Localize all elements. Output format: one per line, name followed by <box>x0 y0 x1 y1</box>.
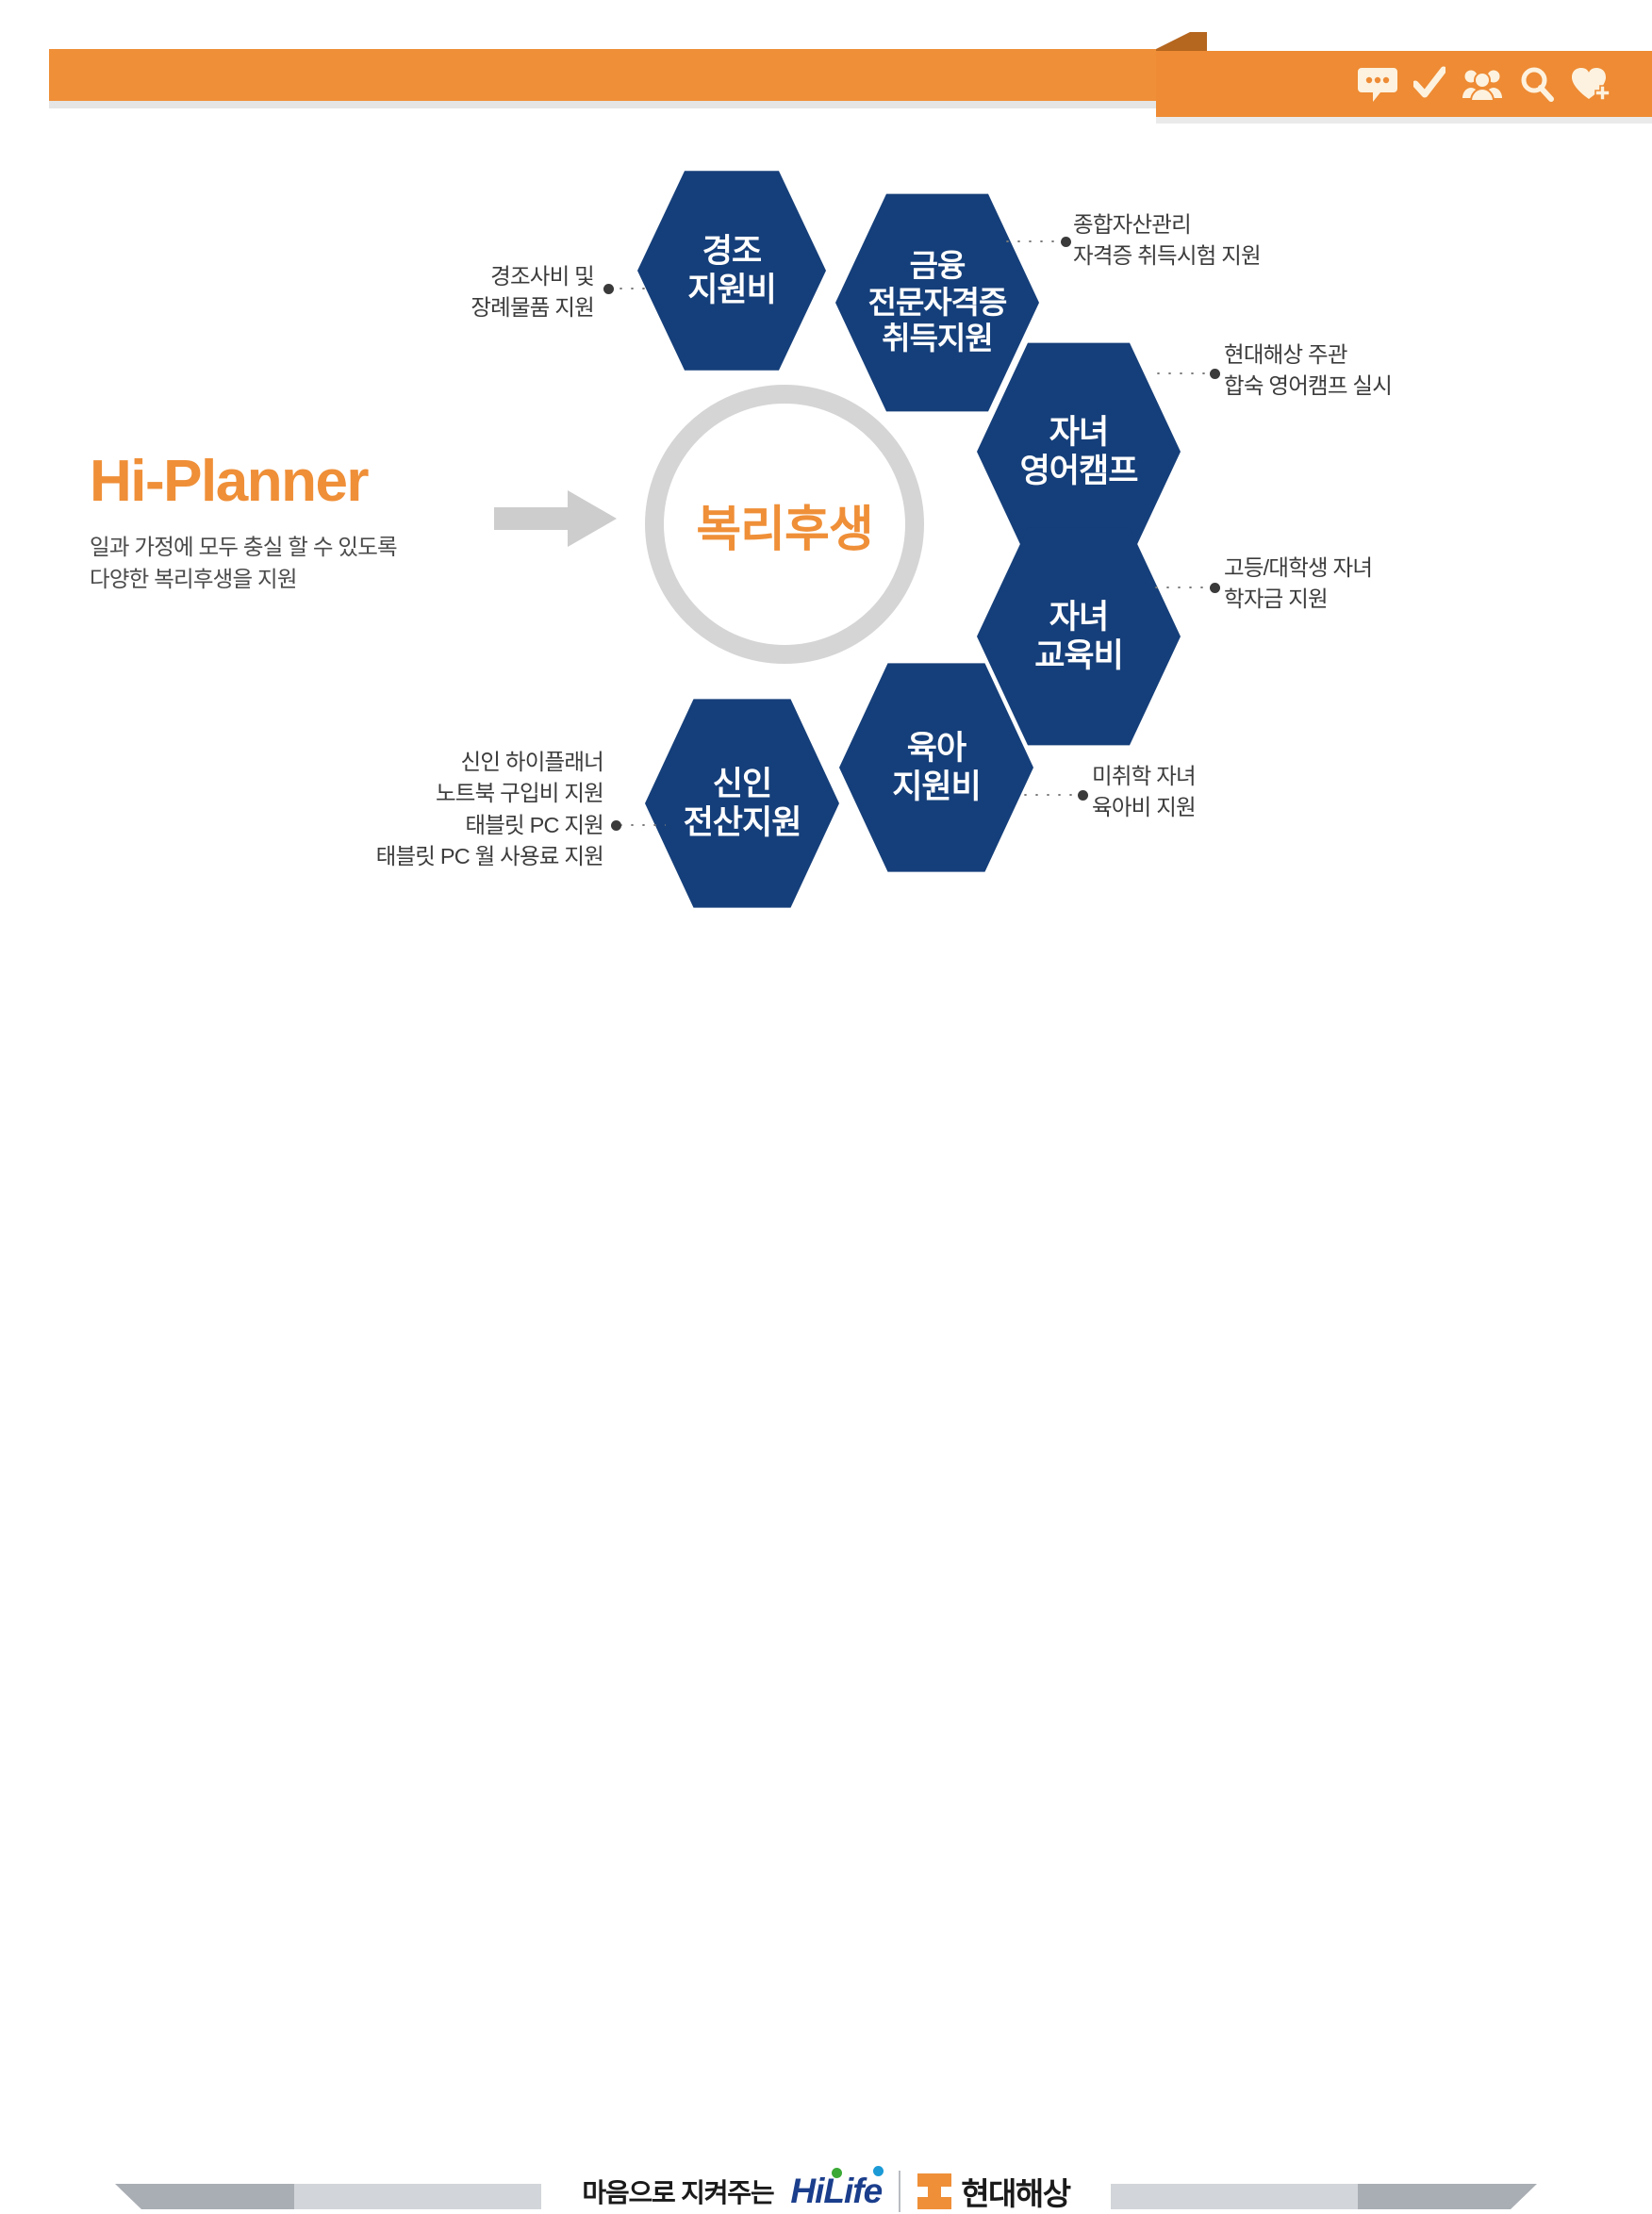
footer-company-name: 현대해상 <box>961 2169 1069 2214</box>
people-group-icon[interactable] <box>1462 66 1503 102</box>
connector-dot <box>1078 790 1088 801</box>
hexagon-label: 자녀영어캠프 <box>1020 413 1138 491</box>
connector-dot <box>1210 583 1220 593</box>
ribbon-fold <box>1156 32 1207 51</box>
brand-subtitle: 일과 가정에 모두 충실 할 수 있도록 다양한 복리후생을 지원 <box>90 531 533 596</box>
callout-line: 합숙 영어캠프 실시 <box>1224 371 1535 402</box>
callout-line: 태블릿 PC 지원 <box>292 810 603 841</box>
callout-line: 노트북 구입비 지원 <box>292 778 603 809</box>
hexagon-gyeongjo[interactable]: 경조지원비 <box>637 168 826 373</box>
callout-line: 현대해상 주관 <box>1224 339 1535 371</box>
callout-line: 장례물품 지원 <box>387 292 594 323</box>
callout-camp-desc: 현대해상 주관 합숙 영어캠프 실시 <box>1224 339 1535 403</box>
connector-line-education <box>1148 585 1220 590</box>
callout-finance-desc: 종합자산관리 자격증 취득시험 지원 <box>1073 209 1384 273</box>
heart-plus-icon[interactable] <box>1571 66 1612 102</box>
connector-line-finance <box>999 239 1071 244</box>
footer-slogan: 마음으로 지켜주는 <box>582 2173 773 2210</box>
callout-childcare-desc: 미취학 자녀 육아비 지원 <box>1092 761 1375 824</box>
header-ribbon <box>0 0 1652 132</box>
callout-line: 종합자산관리 <box>1073 209 1384 240</box>
callout-line: 자격증 취득시험 지원 <box>1073 240 1384 272</box>
hexagon-finance[interactable]: 금융전문자격증취득지원 <box>835 190 1039 415</box>
header-icon-row <box>1358 62 1594 106</box>
brand-block: Hi-Planner 일과 가정에 모두 충실 할 수 있도록 다양한 복리후생… <box>90 451 533 596</box>
hexagon-it-support[interactable]: 신인전산지원 <box>645 696 839 911</box>
callout-gyeongjo-desc: 경조사비 및 장례물품 지원 <box>387 261 594 324</box>
center-hub: 복리후생 <box>645 385 924 664</box>
center-hub-label: 복리후생 <box>696 489 872 560</box>
hexagon-label: 신인전산지원 <box>684 765 801 843</box>
callout-it-support-desc: 신인 하이플래너 노트북 구입비 지원 태블릿 PC 지원 태블릿 PC 월 사… <box>292 747 603 872</box>
callout-line: 경조사비 및 <box>387 261 594 292</box>
callout-line: 미취학 자녀 <box>1092 761 1375 792</box>
hexagon-label: 육아지원비 <box>892 729 981 807</box>
connector-dot <box>1061 237 1071 247</box>
ribbon-right-shadow <box>1156 117 1652 124</box>
connector-dot <box>603 284 614 294</box>
brand-subtitle-line-1: 일과 가정에 모두 충실 할 수 있도록 <box>90 531 533 563</box>
hexagon-label: 금융전문자격증취득지원 <box>868 248 1007 358</box>
callout-line: 육아비 지원 <box>1092 792 1375 823</box>
callout-line: 고등/대학생 자녀 <box>1224 553 1507 584</box>
footer-divider <box>899 2171 900 2212</box>
ribbon-main-shadow <box>49 101 1207 108</box>
footer: 마음으로 지켜주는 HiLife 현대해상 <box>0 1082 1652 1158</box>
hilife-dot-blue <box>873 2166 884 2176</box>
footer-center: 마음으로 지켜주는 HiLife 현대해상 <box>0 2169 1652 2214</box>
callout-line: 학자금 지원 <box>1224 584 1507 615</box>
hyundai-h-mark-icon <box>917 2173 951 2209</box>
callout-education-desc: 고등/대학생 자녀 학자금 지원 <box>1224 553 1507 616</box>
magnifier-icon[interactable] <box>1519 66 1555 102</box>
connector-dot <box>611 820 621 831</box>
connector-line-camp <box>1152 371 1220 376</box>
ribbon-main-band <box>49 49 1207 101</box>
connector-line-gyeongjo <box>603 286 651 291</box>
connector-line-it-support <box>611 822 666 828</box>
hexagon-label: 경조지원비 <box>687 232 776 310</box>
footer-brand: 현대해상 <box>917 2169 1069 2214</box>
flow-arrow-icon <box>494 490 617 547</box>
hexagon-label: 자녀교육비 <box>1034 598 1123 676</box>
brand-subtitle-line-2: 다양한 복리후생을 지원 <box>90 563 533 595</box>
connector-dot <box>1210 369 1220 379</box>
callout-line: 태블릿 PC 월 사용료 지원 <box>292 841 603 872</box>
callout-line: 신인 하이플래너 <box>292 747 603 778</box>
speech-bubble-icon[interactable] <box>1358 66 1397 102</box>
hilife-logo: HiLife <box>790 2172 882 2211</box>
check-icon[interactable] <box>1413 66 1445 102</box>
page-title: Hi-Planner <box>90 451 533 512</box>
connector-line-childcare <box>1018 792 1088 798</box>
